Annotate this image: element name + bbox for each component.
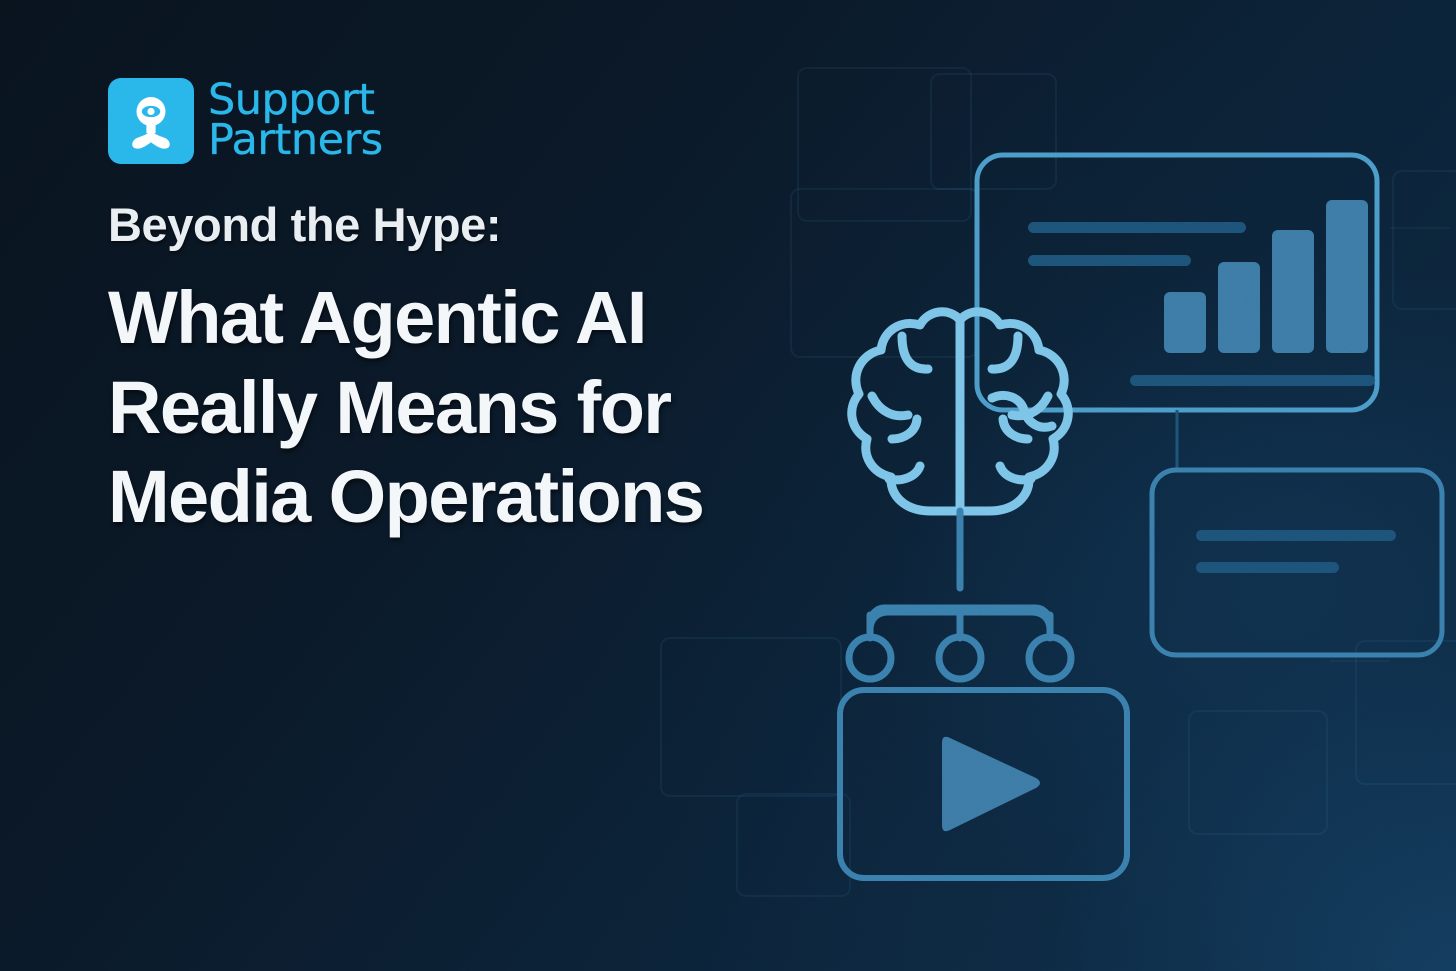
video-play-panel-icon [840, 690, 1127, 878]
hero-illustration [640, 30, 1456, 930]
node-tree-icon [849, 511, 1071, 679]
play-triangle-icon [942, 737, 1040, 831]
brain-icon [852, 312, 1069, 511]
hero-banner: Support Partners Beyond the Hype: What A… [0, 0, 1456, 971]
analytics-dashboard-panel-icon [977, 155, 1377, 410]
content-card-panel-icon [1152, 470, 1442, 655]
support-partners-figure-icon [108, 78, 194, 164]
brand-name-line2: Partners [208, 121, 383, 161]
brand-wordmark: Support Partners [208, 81, 383, 160]
